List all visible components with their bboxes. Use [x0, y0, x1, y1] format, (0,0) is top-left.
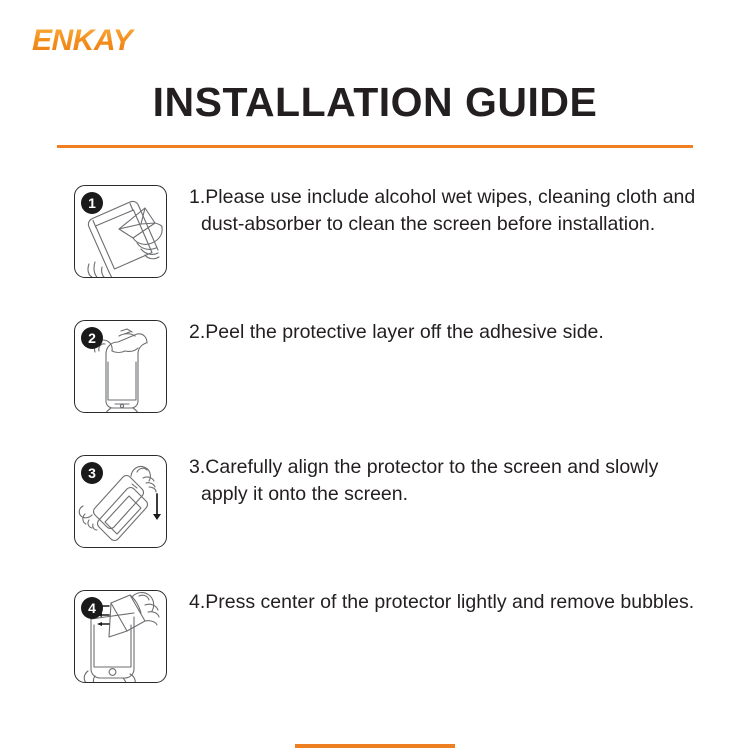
footer-divider: [295, 744, 455, 748]
step-number-badge: 3: [81, 462, 103, 484]
title-divider: [57, 145, 693, 148]
step-number-badge: 1: [81, 192, 103, 214]
step-description: 3.Carefully align the protector to the s…: [189, 448, 710, 508]
wipe-tissue-icon: [119, 208, 155, 238]
step-3-illustration: 3: [74, 455, 167, 548]
protector-overlay-icon: [94, 476, 144, 529]
step-number-badge: 4: [81, 597, 103, 619]
installation-steps-list: 1 1.Please use include alcohol wet wipes…: [0, 178, 750, 718]
step-description: 2.Peel the protective layer off the adhe…: [189, 313, 710, 346]
installation-step: 1 1.Please use include alcohol wet wipes…: [0, 178, 750, 313]
phone-base-icon: [106, 408, 138, 413]
phone-outline-icon: [91, 613, 134, 678]
supporting-hand-icon: [88, 262, 105, 278]
installation-step: 2 2.Peel the protective layer off the ad…: [0, 313, 750, 448]
installation-step: 4 4.Press center of the protector lightl…: [0, 583, 750, 718]
step-1-illustration: 1: [74, 185, 167, 278]
brand-logo: ENKAY: [32, 24, 172, 58]
down-arrow-icon: [153, 494, 161, 520]
brand-logo-text: ENKAY: [32, 24, 172, 58]
step-description: 4.Press center of the protector lightly …: [189, 583, 710, 616]
page-title: INSTALLATION GUIDE: [0, 78, 750, 126]
phone-outline-icon: [98, 488, 148, 541]
step-number-badge: 2: [81, 327, 103, 349]
step-2-illustration: 2: [74, 320, 167, 413]
right-hand-icon: [131, 466, 156, 492]
installation-step: 3 3.Carefully align the protector to the…: [0, 448, 750, 583]
step-4-illustration: 4: [74, 590, 167, 683]
step-description: 1.Please use include alcohol wet wipes, …: [189, 178, 710, 238]
protector-sheet-icon: [106, 354, 138, 408]
